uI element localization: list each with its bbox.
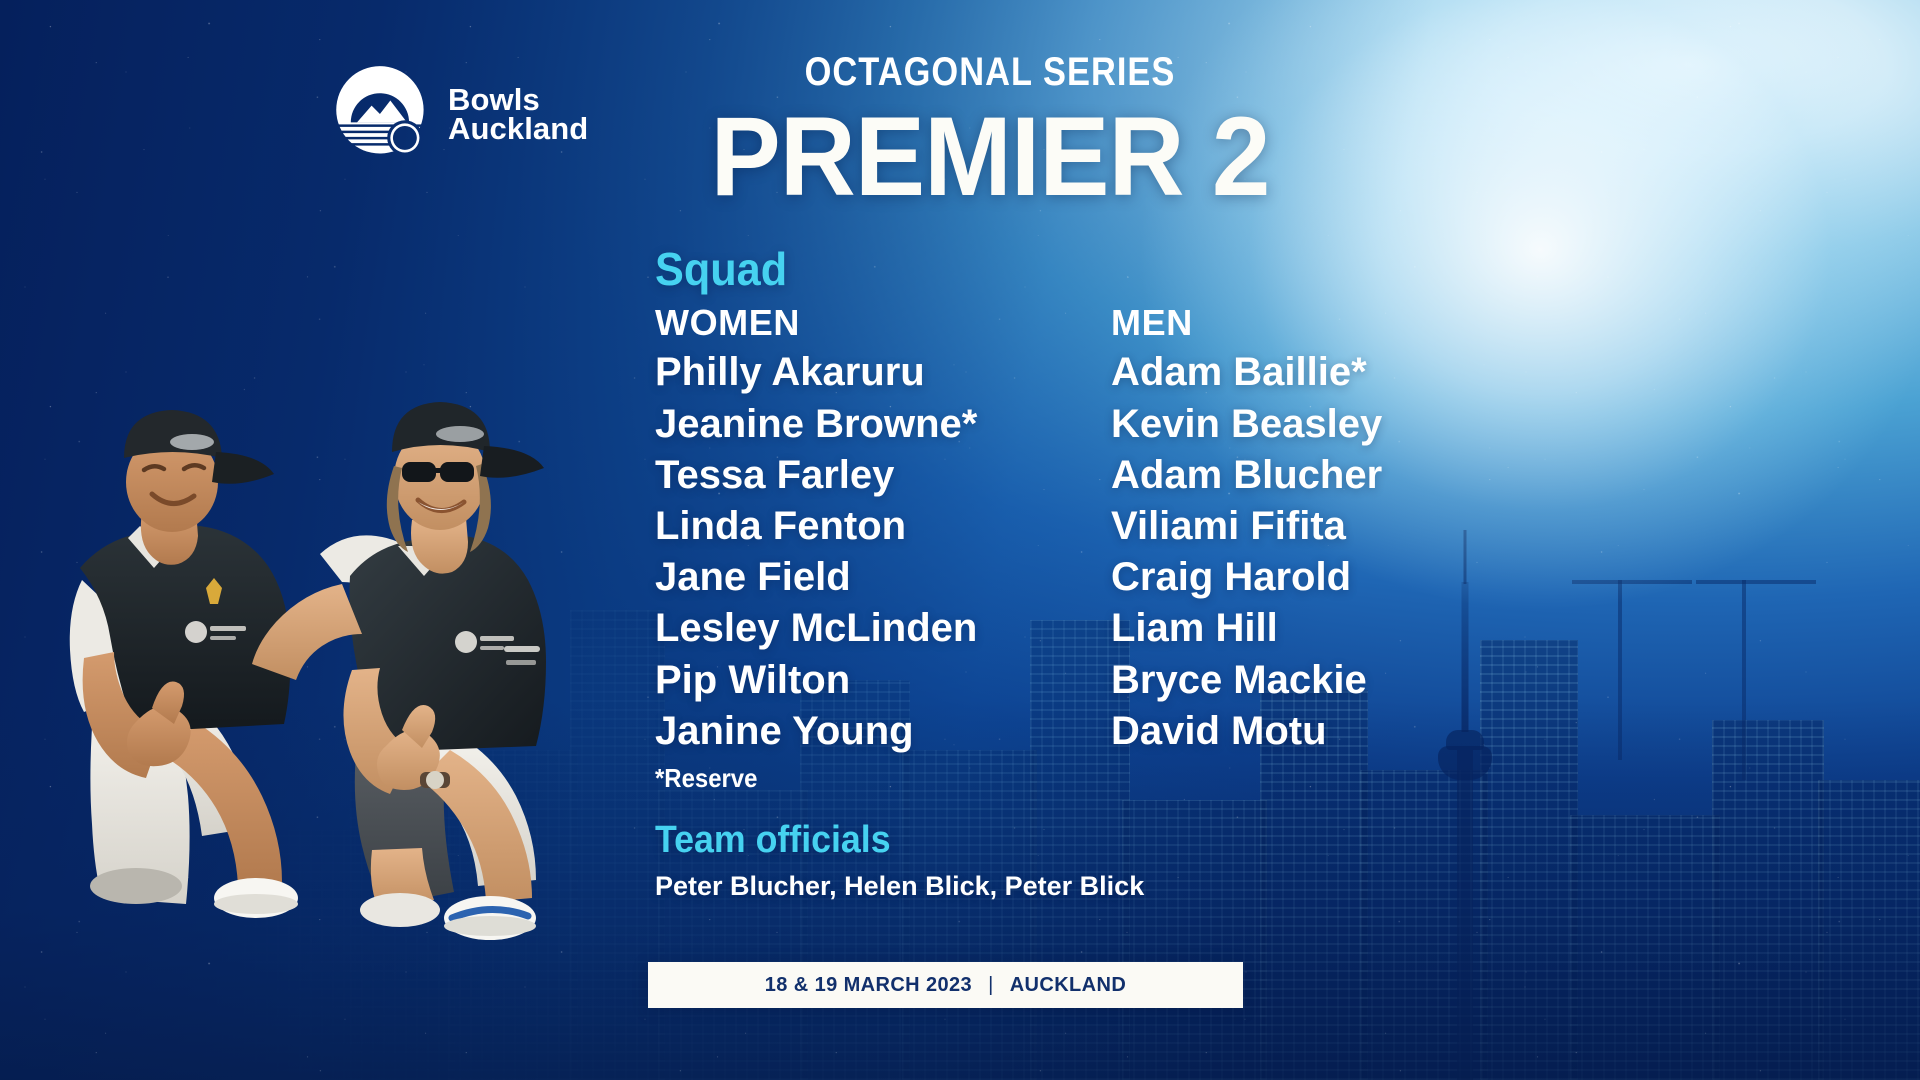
team-photo — [20, 370, 640, 990]
men-label: MEN — [1111, 298, 1511, 348]
women-column: WOMEN Philly Akaruru Jeanine Browne* Tes… — [655, 298, 1055, 794]
team-officials-heading: Team officials — [655, 820, 1463, 862]
page-title: PREMIER 2 — [661, 101, 1319, 213]
list-item: Adam Blucher — [1111, 450, 1511, 501]
event-separator: | — [972, 974, 1010, 997]
bowls-auckland-logo-icon — [330, 62, 434, 166]
reserve-footnote: *Reserve — [655, 763, 1023, 794]
list-item: Kevin Beasley — [1111, 399, 1511, 450]
women-label: WOMEN — [655, 298, 1055, 348]
list-item: David Motu — [1111, 706, 1511, 757]
list-item: Linda Fenton — [655, 501, 1055, 552]
team-officials-section: Team officials Peter Blucher, Helen Blic… — [655, 820, 1515, 902]
bowls-auckland-logo: Bowls Auckland — [330, 62, 588, 166]
logo-wordmark: Bowls Auckland — [448, 85, 588, 143]
list-item: Lesley McLinden — [655, 603, 1055, 654]
poster-canvas: Bowls Auckland OCTAGONAL SERIES PREMIER … — [0, 0, 1920, 1080]
list-item: Pip Wilton — [655, 655, 1055, 706]
list-item: Jane Field — [655, 552, 1055, 603]
list-item: Janine Young — [655, 706, 1055, 757]
team-officials-names: Peter Blucher, Helen Blick, Peter Blick — [655, 871, 1515, 902]
men-column: MEN Adam Baillie* Kevin Beasley Adam Blu… — [1111, 298, 1511, 794]
list-item: Tessa Farley — [655, 450, 1055, 501]
list-item: Craig Harold — [1111, 552, 1511, 603]
list-item: Philly Akaruru — [655, 347, 1055, 398]
title-block: OCTAGONAL SERIES PREMIER 2 — [640, 50, 1340, 213]
list-item: Jeanine Browne* — [655, 399, 1055, 450]
squad-heading: Squad — [655, 245, 1463, 294]
event-details-bar: 18 & 19 MARCH 2023 | AUCKLAND — [648, 962, 1243, 1008]
list-item: Viliami Fifita — [1111, 501, 1511, 552]
event-dates: 18 & 19 MARCH 2023 — [765, 974, 972, 997]
event-location: AUCKLAND — [1010, 974, 1127, 997]
list-item: Bryce Mackie — [1111, 655, 1511, 706]
list-item: Liam Hill — [1111, 603, 1511, 654]
squad-columns: WOMEN Philly Akaruru Jeanine Browne* Tes… — [655, 298, 1515, 794]
list-item: Adam Baillie* — [1111, 347, 1511, 398]
event-details-text: 18 & 19 MARCH 2023 | AUCKLAND — [765, 974, 1126, 997]
logo-line-2: Auckland — [448, 114, 588, 143]
squad-section: Squad WOMEN Philly Akaruru Jeanine Brown… — [655, 245, 1515, 794]
logo-line-1: Bowls — [448, 85, 588, 114]
series-kicker: OCTAGONAL SERIES — [689, 50, 1291, 95]
